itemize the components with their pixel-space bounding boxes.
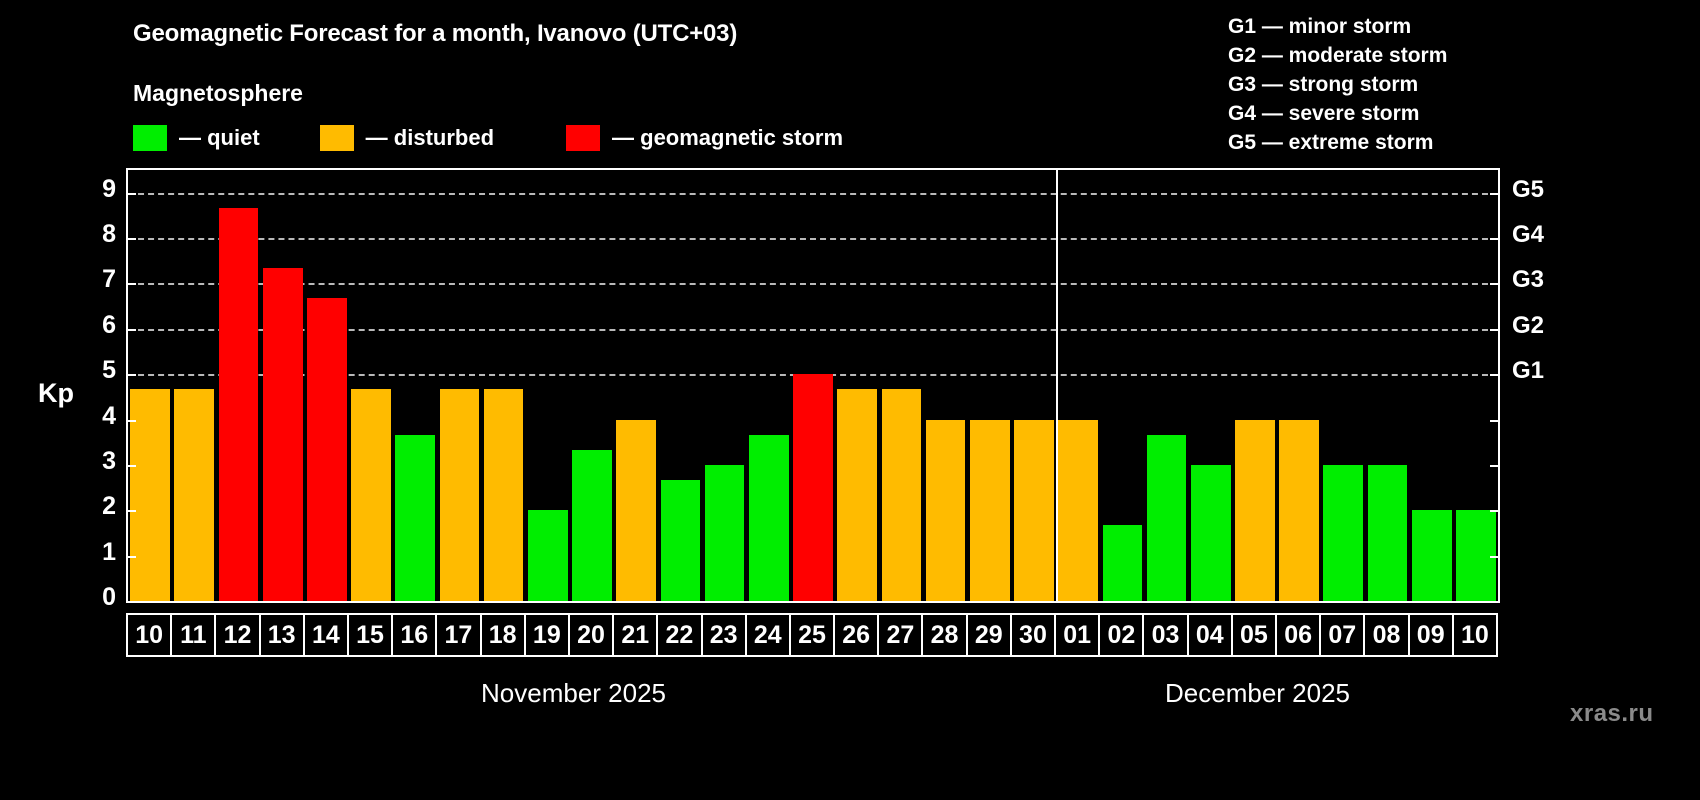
day-label-11-1[interactable]: 11	[170, 613, 216, 657]
day-labels-strip: 1011121314151617181920212223242526272829…	[126, 613, 1500, 657]
bar-day-08	[1368, 465, 1408, 601]
day-label-08-28[interactable]: 08	[1363, 613, 1409, 657]
bar-day-01	[1058, 420, 1098, 601]
g-scale-legend: G1 — minor stormG2 — moderate stormG3 — …	[1228, 12, 1447, 157]
g-axis-label-G1: G1	[1512, 357, 1544, 385]
y-tick-label-4: 4	[76, 402, 116, 431]
y-tick-mark-7	[126, 283, 136, 285]
y-tick-mark-5	[126, 374, 136, 376]
day-label-16-6[interactable]: 16	[391, 613, 437, 657]
bar-day-23	[705, 465, 745, 601]
day-label-05-25[interactable]: 05	[1231, 613, 1277, 657]
g-axis-label-G3: G3	[1512, 266, 1544, 294]
bar-day-18	[484, 389, 524, 601]
legend-item-quiet: — quiet	[133, 125, 260, 151]
bar-day-21	[616, 420, 656, 601]
right-tick-mark-5	[1490, 374, 1500, 376]
bar-day-06	[1279, 420, 1319, 601]
right-tick-mark-9	[1490, 193, 1500, 195]
right-tick-mark-7	[1490, 283, 1500, 285]
day-label-30-20[interactable]: 30	[1010, 613, 1056, 657]
day-label-03-23[interactable]: 03	[1142, 613, 1188, 657]
right-tick-mark-1	[1490, 556, 1500, 558]
right-tick-mark-3	[1490, 465, 1500, 467]
legend-item-storm: — geomagnetic storm	[566, 125, 843, 151]
bar-day-19	[528, 510, 568, 601]
day-label-24-14[interactable]: 24	[745, 613, 791, 657]
right-tick-mark-8	[1490, 238, 1500, 240]
y-tick-label-2: 2	[76, 492, 116, 521]
day-label-09-29[interactable]: 09	[1408, 613, 1454, 657]
day-label-21-11[interactable]: 21	[612, 613, 658, 657]
g-axis-label-G5: G5	[1512, 176, 1544, 204]
g-axis-label-G4: G4	[1512, 221, 1544, 249]
day-label-22-12[interactable]: 22	[656, 613, 702, 657]
bar-day-24	[749, 435, 789, 602]
bar-day-20	[572, 450, 612, 601]
g-scale-line-3: G3 — strong storm	[1228, 70, 1447, 99]
bar-day-26	[837, 389, 877, 601]
bar-day-28	[926, 420, 966, 601]
watermark: xras.ru	[1570, 700, 1654, 728]
magnetosphere-label: Magnetosphere	[133, 80, 303, 107]
day-label-28-18[interactable]: 28	[921, 613, 967, 657]
bar-day-03	[1147, 435, 1187, 602]
y-tick-mark-2	[126, 510, 136, 512]
y-tick-mark-8	[126, 238, 136, 240]
g-axis-label-G2: G2	[1512, 312, 1544, 340]
bars-layer	[128, 170, 1498, 601]
legend-item-disturbed: — disturbed	[320, 125, 494, 151]
right-tick-mark-6	[1490, 329, 1500, 331]
bar-day-10	[130, 389, 170, 601]
page-title: Geomagnetic Forecast for a month, Ivanov…	[133, 20, 737, 48]
y-axis-title: Kp	[38, 378, 74, 409]
g-scale-line-5: G5 — extreme storm	[1228, 128, 1447, 157]
month-caption-december: December 2025	[1165, 678, 1350, 709]
magnetosphere-legend: — quiet— disturbed— geomagnetic storm	[133, 124, 843, 152]
day-label-10-30[interactable]: 10	[1452, 613, 1498, 657]
month-caption-november: November 2025	[481, 678, 666, 709]
y-tick-mark-4	[126, 420, 136, 422]
legend-label-quiet: — quiet	[179, 125, 260, 151]
day-label-13-3[interactable]: 13	[259, 613, 305, 657]
bar-day-27	[882, 389, 922, 601]
day-label-23-13[interactable]: 23	[701, 613, 747, 657]
g-scale-line-2: G2 — moderate storm	[1228, 41, 1447, 70]
y-tick-label-5: 5	[76, 356, 116, 385]
bar-day-25	[793, 374, 833, 601]
y-tick-label-3: 3	[76, 447, 116, 476]
right-tick-mark-0	[1490, 601, 1500, 603]
y-tick-mark-3	[126, 465, 136, 467]
bar-day-29	[970, 420, 1010, 601]
y-tick-label-6: 6	[76, 311, 116, 340]
bar-day-13	[263, 268, 303, 601]
bar-day-30	[1014, 420, 1054, 601]
legend-label-disturbed: — disturbed	[366, 125, 494, 151]
bar-day-17	[440, 389, 480, 601]
day-label-18-8[interactable]: 18	[480, 613, 526, 657]
y-tick-label-0: 0	[76, 583, 116, 612]
day-label-17-7[interactable]: 17	[435, 613, 481, 657]
day-label-20-10[interactable]: 20	[568, 613, 614, 657]
bar-day-04	[1191, 465, 1231, 601]
y-tick-mark-0	[126, 601, 136, 603]
plot-area	[126, 168, 1500, 603]
y-tick-label-8: 8	[76, 220, 116, 249]
bar-day-09	[1412, 510, 1452, 601]
y-axis-labels: 0123456789	[70, 168, 116, 603]
day-label-12-2[interactable]: 12	[214, 613, 260, 657]
bar-day-15	[351, 389, 391, 601]
legend-swatch-disturbed-icon	[320, 125, 354, 151]
right-tick-mark-2	[1490, 510, 1500, 512]
g-scale-line-4: G4 — severe storm	[1228, 99, 1447, 128]
g-scale-line-1: G1 — minor storm	[1228, 12, 1447, 41]
bar-day-02	[1103, 525, 1143, 601]
legend-swatch-storm-icon	[566, 125, 600, 151]
day-label-27-17[interactable]: 27	[877, 613, 923, 657]
day-label-26-16[interactable]: 26	[833, 613, 879, 657]
legend-label-storm: — geomagnetic storm	[612, 125, 843, 151]
day-label-14-4[interactable]: 14	[303, 613, 349, 657]
y-tick-mark-1	[126, 556, 136, 558]
right-tick-mark-4	[1490, 420, 1500, 422]
bar-day-16	[395, 435, 435, 602]
y-tick-label-9: 9	[76, 175, 116, 204]
y-tick-label-1: 1	[76, 538, 116, 567]
bar-day-22	[661, 480, 701, 601]
day-label-01-21[interactable]: 01	[1054, 613, 1100, 657]
day-label-15-5[interactable]: 15	[347, 613, 393, 657]
day-label-29-19[interactable]: 29	[966, 613, 1012, 657]
day-label-19-9[interactable]: 19	[524, 613, 570, 657]
day-label-25-15[interactable]: 25	[789, 613, 835, 657]
day-label-06-26[interactable]: 06	[1275, 613, 1321, 657]
bar-day-12	[219, 208, 259, 601]
bar-day-07	[1323, 465, 1363, 601]
y-tick-mark-6	[126, 329, 136, 331]
y-tick-mark-9	[126, 193, 136, 195]
bar-day-05	[1235, 420, 1275, 601]
right-axis-g-labels: G1G2G3G4G5	[1512, 168, 1572, 603]
y-tick-label-7: 7	[76, 265, 116, 294]
month-divider	[1056, 170, 1058, 601]
bar-day-11	[174, 389, 214, 601]
day-label-10-0[interactable]: 10	[126, 613, 172, 657]
bar-day-14	[307, 298, 347, 601]
chart-page: Geomagnetic Forecast for a month, Ivanov…	[0, 0, 1700, 800]
day-label-02-22[interactable]: 02	[1098, 613, 1144, 657]
day-label-07-27[interactable]: 07	[1319, 613, 1365, 657]
legend-swatch-quiet-icon	[133, 125, 167, 151]
day-label-04-24[interactable]: 04	[1187, 613, 1233, 657]
